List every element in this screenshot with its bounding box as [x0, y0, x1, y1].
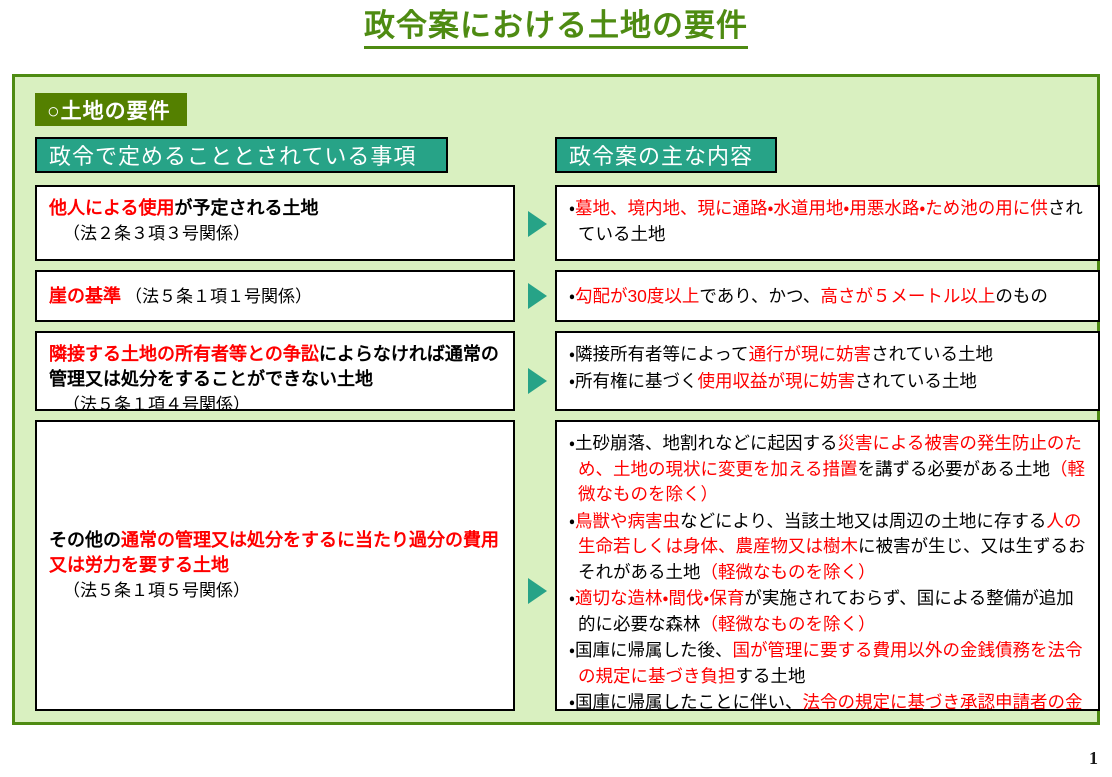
bullet-seg-black: などにより、当該土地又は周辺の土地に存する [680, 511, 1046, 531]
bullet-seg-black-2: されている土地 [871, 344, 993, 364]
requirement-box-3-content: 隣接する土地の所有者等との争訟によらなければ通常の管理又は処分をすることができな… [37, 333, 513, 411]
section-header-label: ○土地の要件 [47, 95, 171, 125]
list-item: ・勾配が30度以上であり、かつ、高さが５メートル以上のもの [569, 284, 1088, 310]
requirement-box-1: 他人による使用が予定される土地 （法２条３項３号関係） [35, 185, 515, 261]
requirement-box-4-content: その他の通常の管理又は処分をするに当たり過分の費用又は労力を要する土地 （法５条… [37, 422, 513, 709]
column-header-right-label: 政令案の主な内容 [569, 139, 753, 171]
bullet-seg-red: 使用収益が現に妨害 [697, 371, 855, 391]
right-triangle-icon-1 [528, 211, 547, 237]
requirement-2-reference: （法５条１項１号関係） [121, 287, 312, 306]
content-box-3: ・隣接所有者等によって通行が現に妨害されている土地 ・所有権に基づく使用収益が現… [555, 331, 1100, 411]
requirement-box-3: 隣接する土地の所有者等との争訟によらなければ通常の管理又は処分をすることができな… [35, 331, 515, 411]
bullet-seg-black-2: されている土地 [855, 371, 977, 391]
requirement-3-headline-red: 隣接する土地の所有者等との争訟 [49, 344, 319, 364]
bullet-seg-black: 国庫に帰属したことに伴い、 [575, 692, 803, 711]
right-triangle-icon-3 [528, 368, 547, 394]
content-box-3-content: ・隣接所有者等によって通行が現に妨害されている土地 ・所有権に基づく使用収益が現… [557, 333, 1098, 402]
column-header-left-label: 政令で定めることとされている事項 [49, 139, 416, 171]
content-panel: ○土地の要件 政令で定めることとされている事項 政令案の主な内容 他人による使用… [12, 74, 1100, 725]
content-box-1: ・墓地、境内地、現に通路・水道用地・用悪水路・ため池の用に供されている土地 [555, 185, 1100, 261]
requirement-4-headline: その他の通常の管理又は処分をするに当たり過分の費用又は労力を要する土地 [49, 528, 503, 578]
right-triangle-icon-4 [528, 578, 547, 604]
requirement-3-reference: （法５条１項４号関係） [49, 392, 503, 411]
bullet-seg-red: 墓地、境内地、現に通路・水道用地・用悪水路・ため池の用に [575, 198, 1030, 218]
right-triangle-icon-2 [528, 283, 547, 309]
column-header-right: 政令案の主な内容 [555, 137, 777, 173]
bullet-seg-black: 国庫に帰属した後、 [575, 640, 733, 660]
content-box-4: ・土砂崩落、地割れなどに起因する災害による被害の発生防止のため、土地の現状に変更… [555, 420, 1100, 711]
requirement-2-headline-red: 崖の基準 [49, 286, 121, 306]
requirement-box-2-content: 崖の基準（法５条１項１号関係） [37, 272, 513, 320]
list-item: ・土砂崩落、地割れなどに起因する災害による被害の発生防止のため、土地の現状に変更… [569, 431, 1088, 508]
requirement-1-headline-black: が予定される土地 [174, 198, 318, 218]
column-header-left: 政令で定めることとされている事項 [35, 137, 448, 173]
list-item: ・鳥獣や病害虫などにより、当該土地又は周辺の土地に存する人の生命若しくは身体、農… [569, 509, 1088, 586]
list-item: ・墓地、境内地、現に通路・水道用地・用悪水路・ため池の用に供されている土地 [569, 196, 1088, 247]
requirement-1-headline: 他人による使用が予定される土地 [49, 196, 503, 221]
list-item: ・適切な造林・間伐・保育が実施されておらず、国による整備が追加的に必要な森林（軽… [569, 586, 1088, 637]
bullet-seg-red: 通行が現に妨害 [749, 344, 872, 364]
bullet-seg-red: 勾配が30度以上 [575, 286, 699, 306]
requirement-box-1-content: 他人による使用が予定される土地 （法２条３項３号関係） [37, 187, 513, 255]
requirement-3-headline: 隣接する土地の所有者等との争訟によらなければ通常の管理又は処分をすることができな… [49, 342, 503, 392]
bullet-seg-black: 所有権に基づく [575, 371, 698, 391]
list-item: ・国庫に帰属した後、国が管理に要する費用以外の金銭債務を法令の規定に基づき負担す… [569, 638, 1088, 689]
requirement-4-headline-black: その他の [49, 530, 121, 550]
bullet-seg-black: 土砂崩落、地割れなどに起因する [575, 433, 838, 453]
page-title: 政令案における土地の要件 [364, 8, 748, 49]
list-item: ・隣接所有者等によって通行が現に妨害されている土地 [569, 342, 1088, 368]
bullet-seg-red: 適切な造林・間伐・保育 [575, 588, 744, 608]
content-box-4-content: ・土砂崩落、地割れなどに起因する災害による被害の発生防止のため、土地の現状に変更… [557, 422, 1098, 711]
requirement-4-reference: （法５条１項５号関係） [49, 578, 503, 604]
content-box-2-content: ・勾配が30度以上であり、かつ、高さが５メートル以上のもの [557, 272, 1098, 320]
bullet-seg-red-2: （軽微なものを除く） [701, 614, 876, 634]
section-header: ○土地の要件 [35, 93, 187, 126]
bullet-seg-red-2: 供 [1030, 198, 1048, 218]
content-box-2: ・勾配が30度以上であり、かつ、高さが５メートル以上のもの [555, 270, 1100, 322]
requirement-box-4: その他の通常の管理又は処分をするに当たり過分の費用又は労力を要する土地 （法５条… [35, 420, 515, 711]
list-item: ・所有権に基づく使用収益が現に妨害されている土地 [569, 369, 1088, 395]
list-item: ・国庫に帰属したことに伴い、法令の規定に基づき承認申請者の金銭債務を国が承継する… [569, 690, 1088, 711]
bullet-seg-black: であり、かつ、 [699, 286, 820, 306]
bullet-seg-red-2: 高さが５メートル以上 [820, 286, 995, 306]
requirement-2-headline: 崖の基準（法５条１項１号関係） [49, 284, 503, 310]
requirement-box-2: 崖の基準（法５条１項１号関係） [35, 270, 515, 322]
page-number: 1 [1089, 748, 1098, 769]
bullet-seg-black-2: する土地 [736, 666, 806, 686]
bullet-seg-black: 隣接所有者等によって [575, 344, 749, 364]
requirement-1-headline-red: 他人による使用 [49, 198, 174, 218]
content-box-1-content: ・墓地、境内地、現に通路・水道用地・用悪水路・ため池の用に供されている土地 [557, 187, 1098, 255]
bullet-seg-red: 鳥獣や病害虫 [575, 511, 680, 531]
bullet-seg-red-3: （軽微なものを除く） [701, 562, 876, 582]
requirement-1-reference: （法２条３項３号関係） [49, 221, 503, 247]
bullet-seg-black-2: を講ずる必要がある土地 [857, 459, 1050, 479]
page-title-wrap: 政令案における土地の要件 [0, 8, 1112, 49]
slide: 政令案における土地の要件 ○土地の要件 政令で定めることとされている事項 政令案… [0, 0, 1112, 777]
bullet-seg-black-2: のもの [995, 286, 1048, 306]
